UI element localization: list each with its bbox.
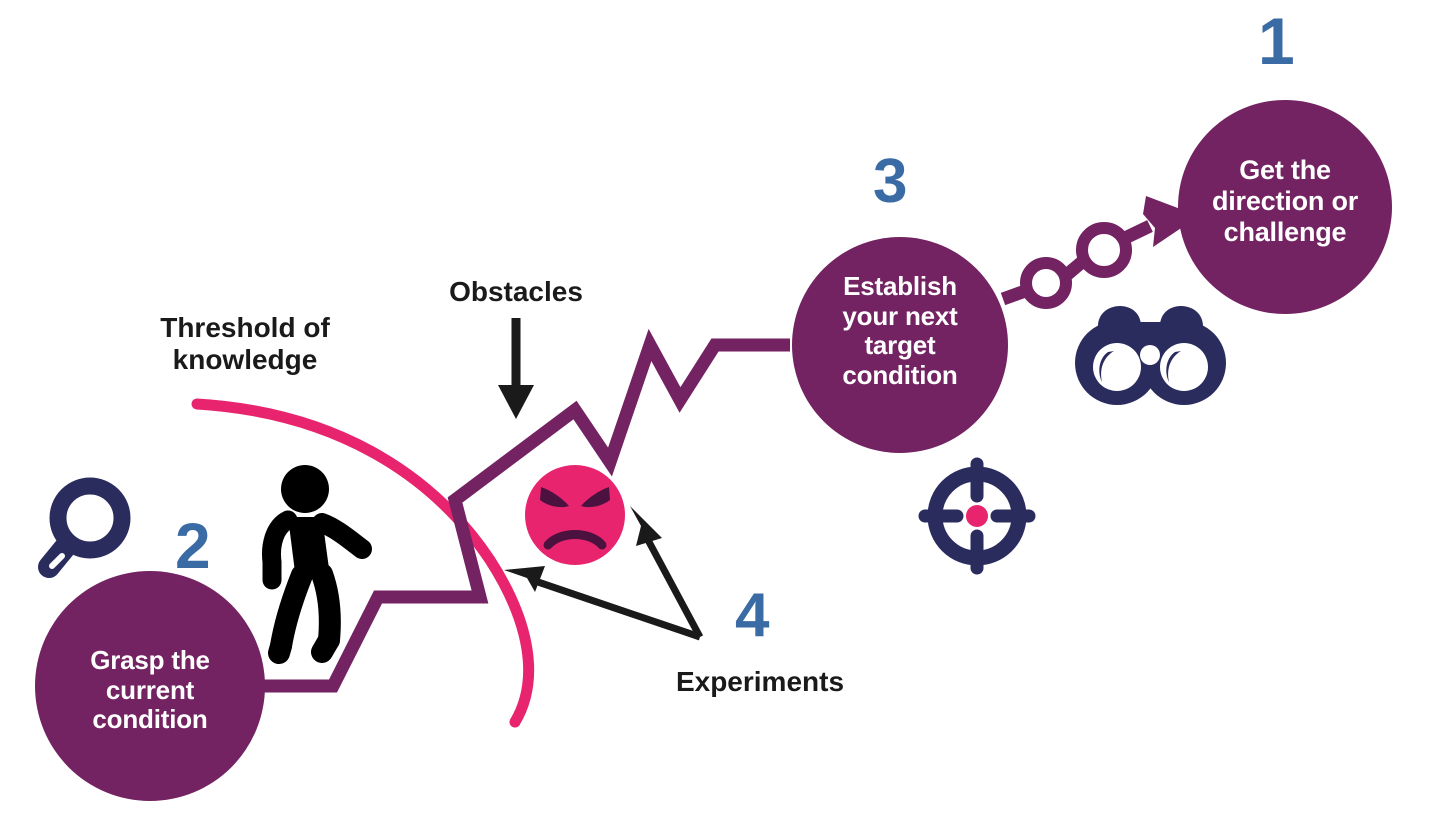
binoculars-icon	[1075, 306, 1226, 405]
target-crosshair-icon	[925, 464, 1029, 568]
step-2-circle[interactable]	[35, 571, 265, 801]
threshold-line-1: Threshold of	[100, 312, 390, 344]
stepping-stones-arrow-icon	[1003, 196, 1199, 303]
diagram-canvas: 1 Get the direction or challenge 2 Grasp…	[0, 0, 1430, 822]
magnifying-glass-icon	[49, 486, 122, 567]
down-arrow-icon	[498, 318, 534, 419]
threshold-of-knowledge-label: Threshold of knowledge	[100, 312, 390, 376]
angry-face-icon	[525, 465, 625, 565]
step-3-circle[interactable]	[792, 237, 1008, 453]
walking-person-icon	[272, 465, 362, 653]
threshold-line-2: knowledge	[100, 344, 390, 376]
step-1-number: 1	[1258, 8, 1295, 74]
step-4-number: 4	[735, 585, 769, 647]
step-3-number: 3	[873, 151, 907, 213]
step-1-circle[interactable]	[1178, 100, 1392, 314]
step-2-number: 2	[175, 514, 211, 578]
obstacles-label: Obstacles	[416, 276, 616, 308]
improvement-kata-svg	[0, 0, 1430, 822]
experiments-label: Experiments	[650, 666, 870, 698]
